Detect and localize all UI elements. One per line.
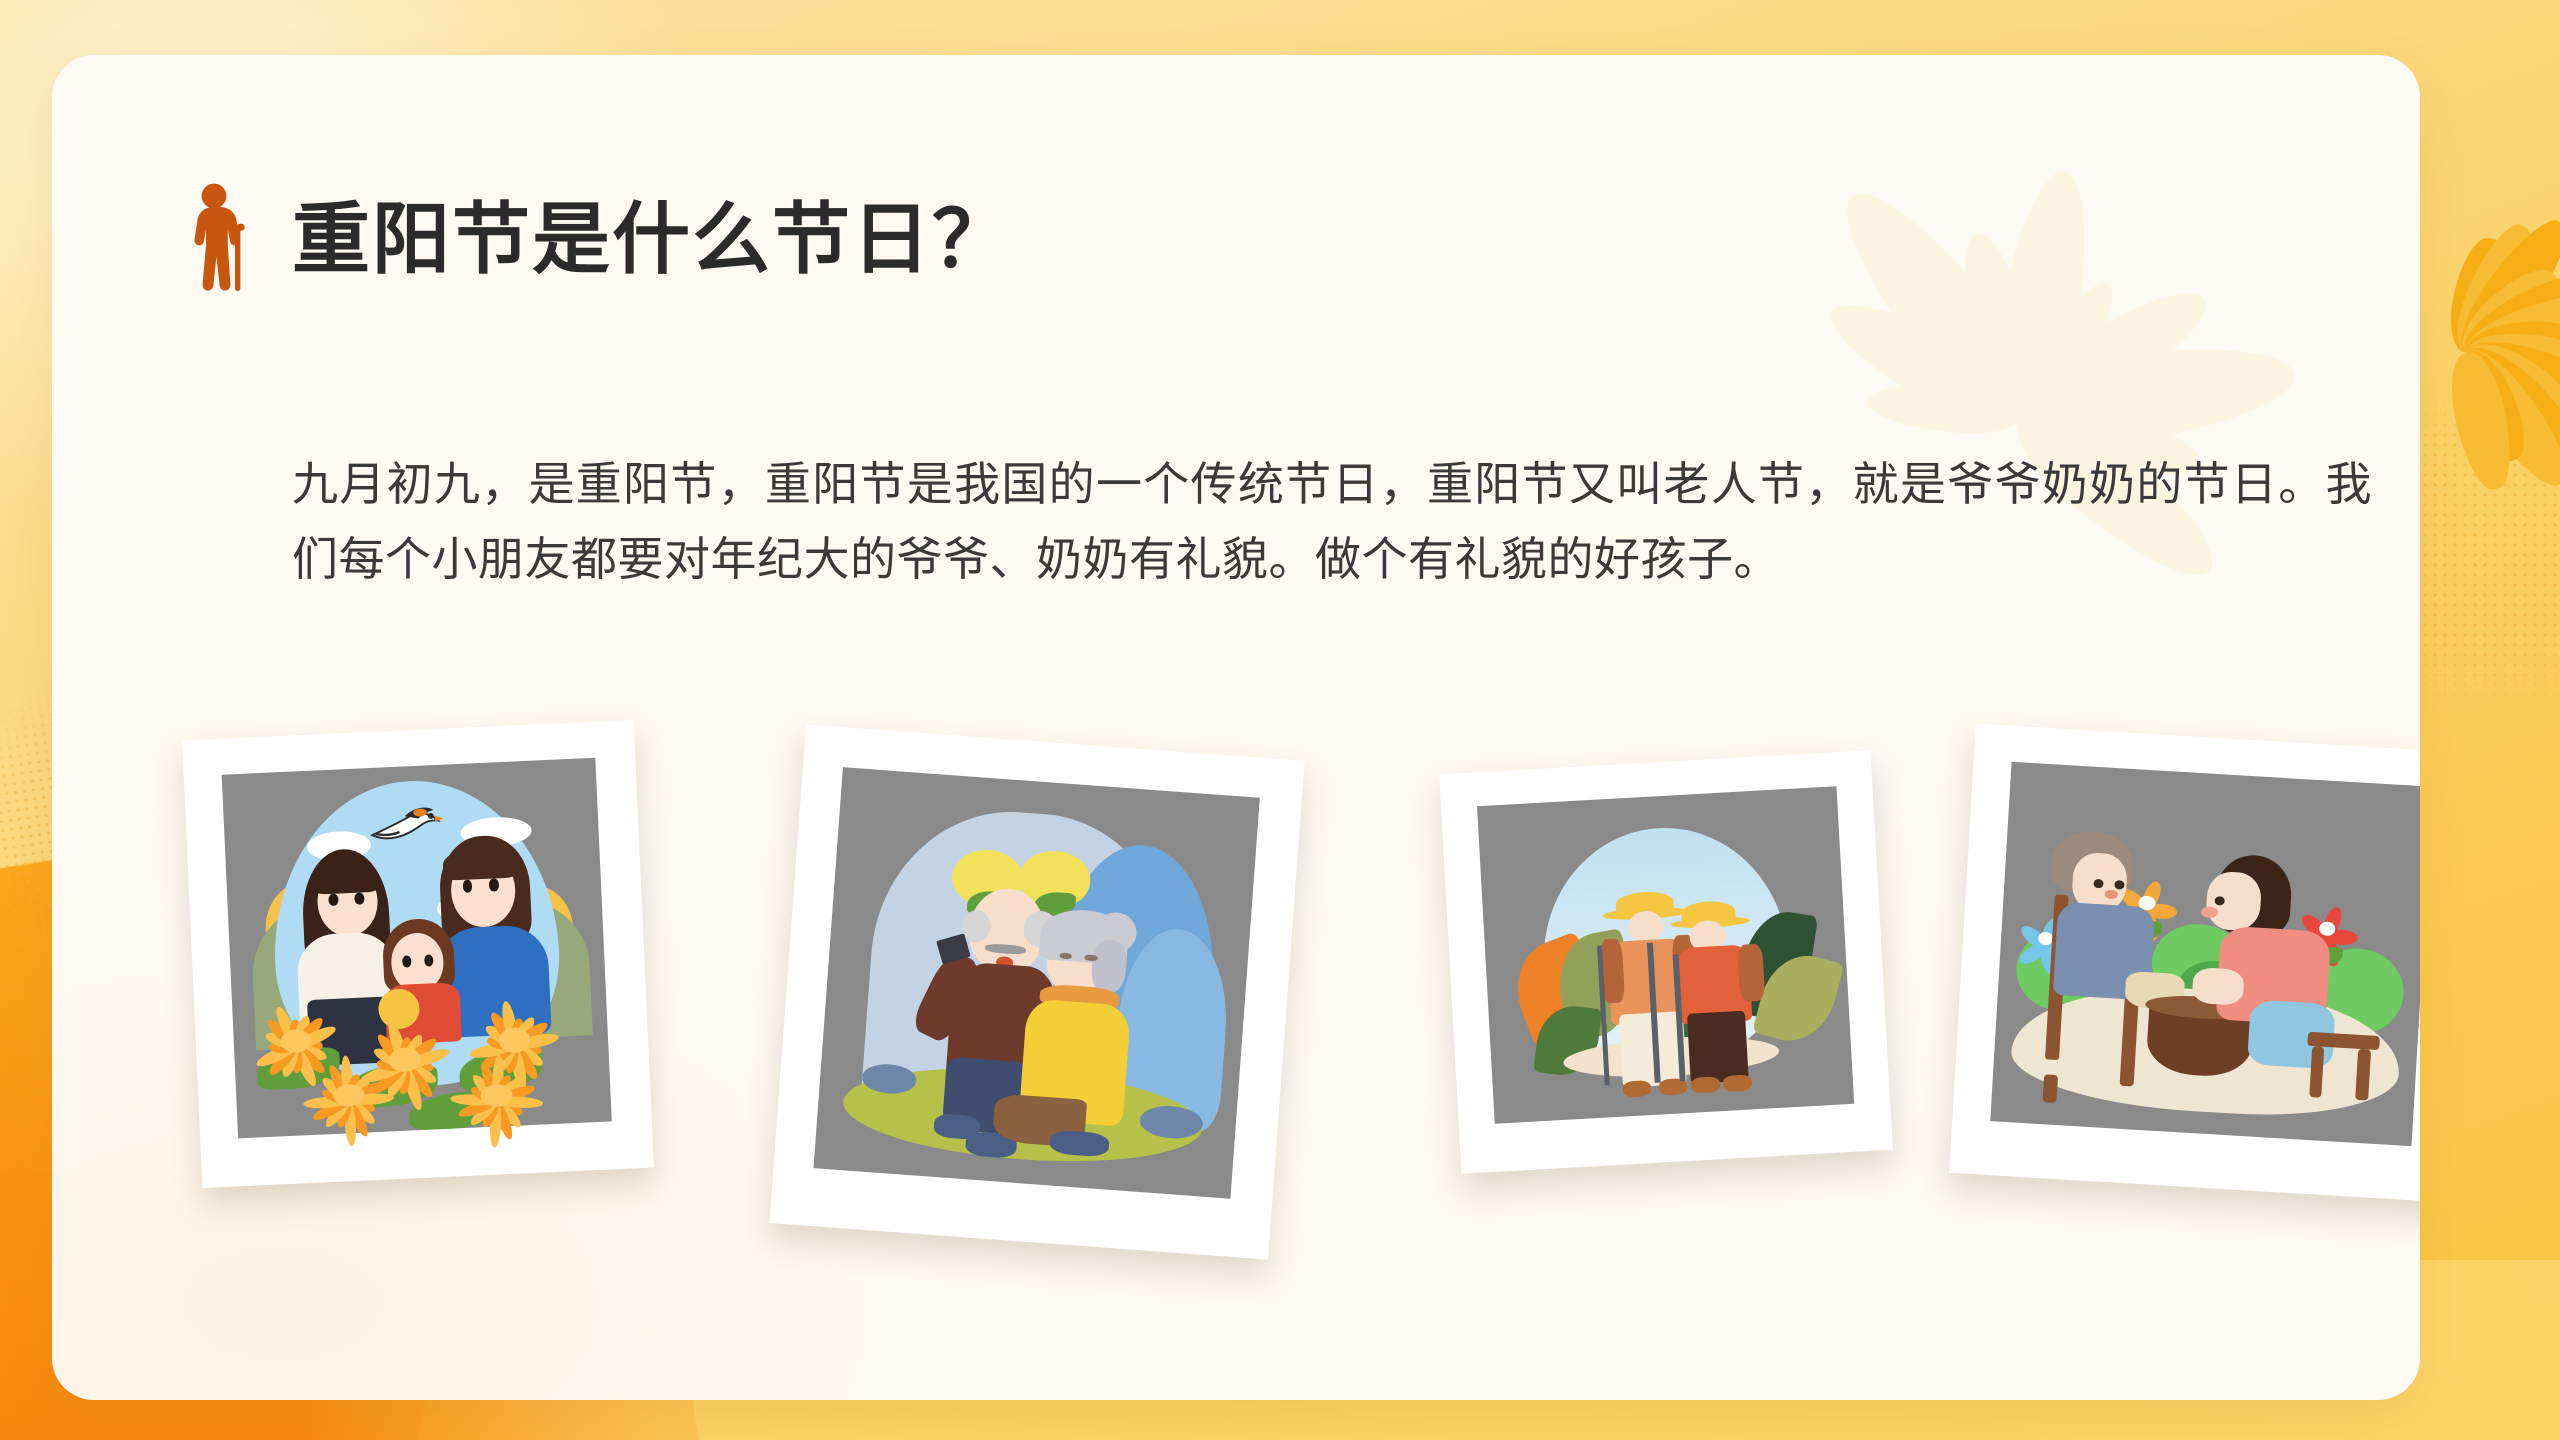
photo-frame-elderly-hikers[interactable]: [1439, 750, 1893, 1173]
leaf-petal: [1949, 227, 2050, 420]
leaf-petal: [1816, 282, 2037, 442]
illustration-family-chrysanthemum: [222, 758, 612, 1139]
photo-frame-washing-feet[interactable]: [1949, 724, 2420, 1203]
leaf-petal: [2016, 332, 2300, 455]
illustration-elderly-couple-selfie: [814, 767, 1260, 1199]
illustration-elderly-hikers: [1477, 786, 1854, 1124]
leaf-petal: [1819, 170, 2056, 440]
photo-gallery: [52, 710, 2420, 1330]
leaf-petal: [1866, 378, 2024, 437]
photo-mat: [1477, 786, 1854, 1124]
photo-mat: [1990, 762, 2420, 1146]
photo-frame-elderly-couple-selfie[interactable]: [769, 724, 1304, 1259]
leaf-petal: [2002, 271, 2129, 427]
intro-paragraph: 九月初九，是重阳节，重阳节是我国的一个传统节日，重阳节又叫老人节，就是爷爷奶奶的…: [292, 447, 2372, 596]
page-title: 重阳节是什么节日？: [292, 200, 1012, 278]
illustration-washing-feet: [1990, 762, 2420, 1146]
photo-frame-family-chrysanthemum[interactable]: [182, 720, 654, 1188]
leaf-petal: [1984, 165, 2102, 420]
content-card: 重阳节是什么节日？ 九月初九，是重阳节，重阳节是我国的一个传统节日，重阳节又叫老…: [52, 55, 2420, 1400]
page-header: 重阳节是什么节日？: [184, 183, 1012, 295]
elderly-person-with-cane-icon: [184, 183, 258, 295]
leaf-petal: [2004, 271, 2222, 442]
photo-mat: [222, 758, 612, 1139]
photo-mat: [814, 767, 1260, 1199]
